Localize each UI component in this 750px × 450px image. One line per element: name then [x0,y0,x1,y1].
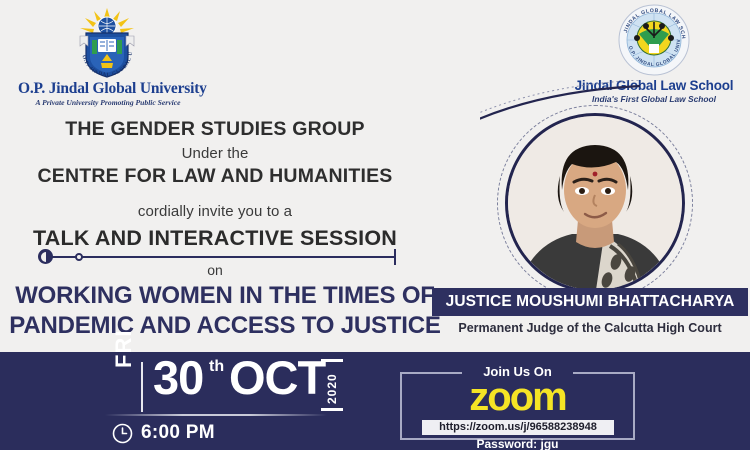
speaker-portrait [497,105,693,301]
event-day-suffix: th [209,358,224,376]
date-underline [105,414,327,416]
event-time: 6:00 PM [141,422,215,444]
bottom-bar: FRI 30 th OCT 2020 6:00 PM Join Us On [0,352,750,450]
event-poster: O.P. JINDAL GLOBAL UNIVERSITY O.P. Jinda… [0,0,750,450]
event-day: 30 [153,354,203,401]
timeline-ring-icon [75,253,83,261]
university-logo: O.P. JINDAL GLOBAL UNIVERSITY O.P. Jinda… [18,6,198,106]
law-school-logo: JINDAL GLOBAL LAW SCHOOL O.P. JINDAL GLO… [566,4,742,104]
centre-name: CENTRE FOR LAW AND HUMANITIES [0,165,430,188]
law-school-name: Jindal Global Law School [566,78,742,93]
headline-line-1: WORKING WOMEN IN THE TIMES OF [0,281,450,311]
zoom-join-block[interactable]: Join Us On zoom https://zoom.us/j/965882… [400,362,635,440]
speaker-portrait-icon [505,113,685,293]
event-weekday: FRI [111,330,137,368]
event-time-row: 6:00 PM [112,422,215,444]
jindal-global-law-school-crest-icon: JINDAL GLOBAL LAW SCHOOL O.P. JINDAL GLO… [616,4,692,76]
on-connector: on [0,262,430,278]
headline-line-2: PANDEMIC AND ACCESS TO JUSTICE [0,311,450,341]
zoom-password: Password: jgu [400,437,635,450]
speaker-name: JUSTICE MOUSHUMI BHATTACHARYA [446,293,735,311]
event-year: 2020 [325,373,339,404]
speaker-designation: Permanent Judge of the Calcutta High Cou… [432,321,748,335]
zoom-brand-logo: zoom [400,376,635,418]
invitation-copy: THE GENDER STUDIES GROUP Under the CENTR… [0,118,430,251]
clock-icon [112,423,133,444]
invite-phrase: cordially invite you to a [0,203,430,220]
event-year-box: 2020 [321,359,343,411]
event-month: OCT [229,354,325,401]
university-name: O.P. Jindal Global University [18,80,198,98]
organiser-name: THE GENDER STUDIES GROUP [0,118,430,141]
law-school-tagline: India's First Global Law School [566,94,742,104]
page-title: WORKING WOMEN IN THE TIMES OF PANDEMIC A… [0,281,450,341]
op-jindal-global-university-crest-icon: O.P. JINDAL GLOBAL UNIVERSITY [64,6,150,78]
university-tagline: A Private University Promoting Public Se… [18,98,198,107]
date-separator [141,362,143,412]
zoom-meeting-link[interactable]: https://zoom.us/j/96588238948 [422,420,614,435]
under-the-label: Under the [0,145,430,162]
speaker-name-banner: JUSTICE MOUSHUMI BHATTACHARYA [432,288,748,316]
timeline-line [44,256,396,258]
event-date-block: FRI 30 th OCT 2020 [105,360,335,416]
